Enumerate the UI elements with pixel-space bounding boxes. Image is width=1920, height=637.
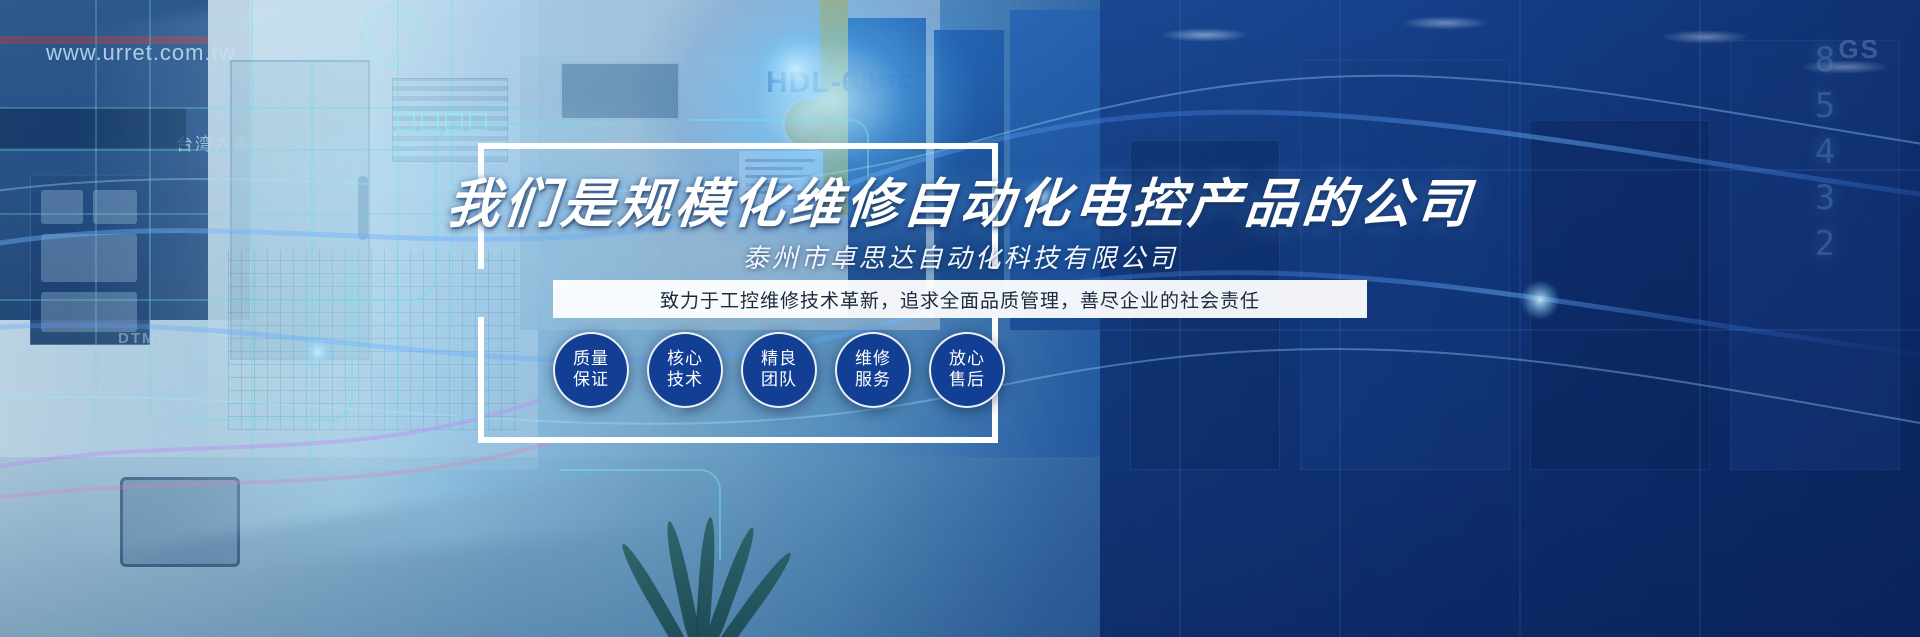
tagline-bar: 致力于工控维修技术革新，追求全面品质管理，善尽企业的社会责任 <box>553 280 1367 318</box>
badge-line-1: 放心 <box>949 349 985 370</box>
badge-core-technology[interactable]: 核心 技术 <box>647 332 723 408</box>
badge-skilled-team[interactable]: 精良 团队 <box>741 332 817 408</box>
banner-headline: 我们是规模化维修自动化电控产品的公司 <box>0 178 1920 231</box>
badge-line-2: 服务 <box>855 370 891 391</box>
badge-line-2: 保证 <box>573 370 609 391</box>
badge-quality-guarantee[interactable]: 质量 保证 <box>553 332 629 408</box>
banner-content: 我们是规模化维修自动化电控产品的公司 泰州市卓思达自动化科技有限公司 致力于工控… <box>0 0 1920 637</box>
badge-line-1: 质量 <box>573 349 609 370</box>
tagline-text: 致力于工控维修技术革新，追求全面品质管理，善尽企业的社会责任 <box>660 286 1260 313</box>
badge-after-sales[interactable]: 放心 售后 <box>929 332 1005 408</box>
badge-line-1: 核心 <box>667 349 703 370</box>
badge-line-2: 售后 <box>949 370 985 391</box>
company-name: 泰州市卓思达自动化科技有限公司 <box>0 238 1920 275</box>
feature-badges: 质量 保证 核心 技术 精良 团队 维修 服务 放心 售后 <box>553 332 1153 408</box>
badge-line-1: 精良 <box>761 349 797 370</box>
hero-banner: www.urret.com.tw 台湾六鑫 HDL-63 DMTC <box>0 0 1920 637</box>
badge-repair-service[interactable]: 维修 服务 <box>835 332 911 408</box>
badge-line-2: 技术 <box>667 370 703 391</box>
badge-line-2: 团队 <box>761 370 797 391</box>
badge-line-1: 维修 <box>855 349 891 370</box>
